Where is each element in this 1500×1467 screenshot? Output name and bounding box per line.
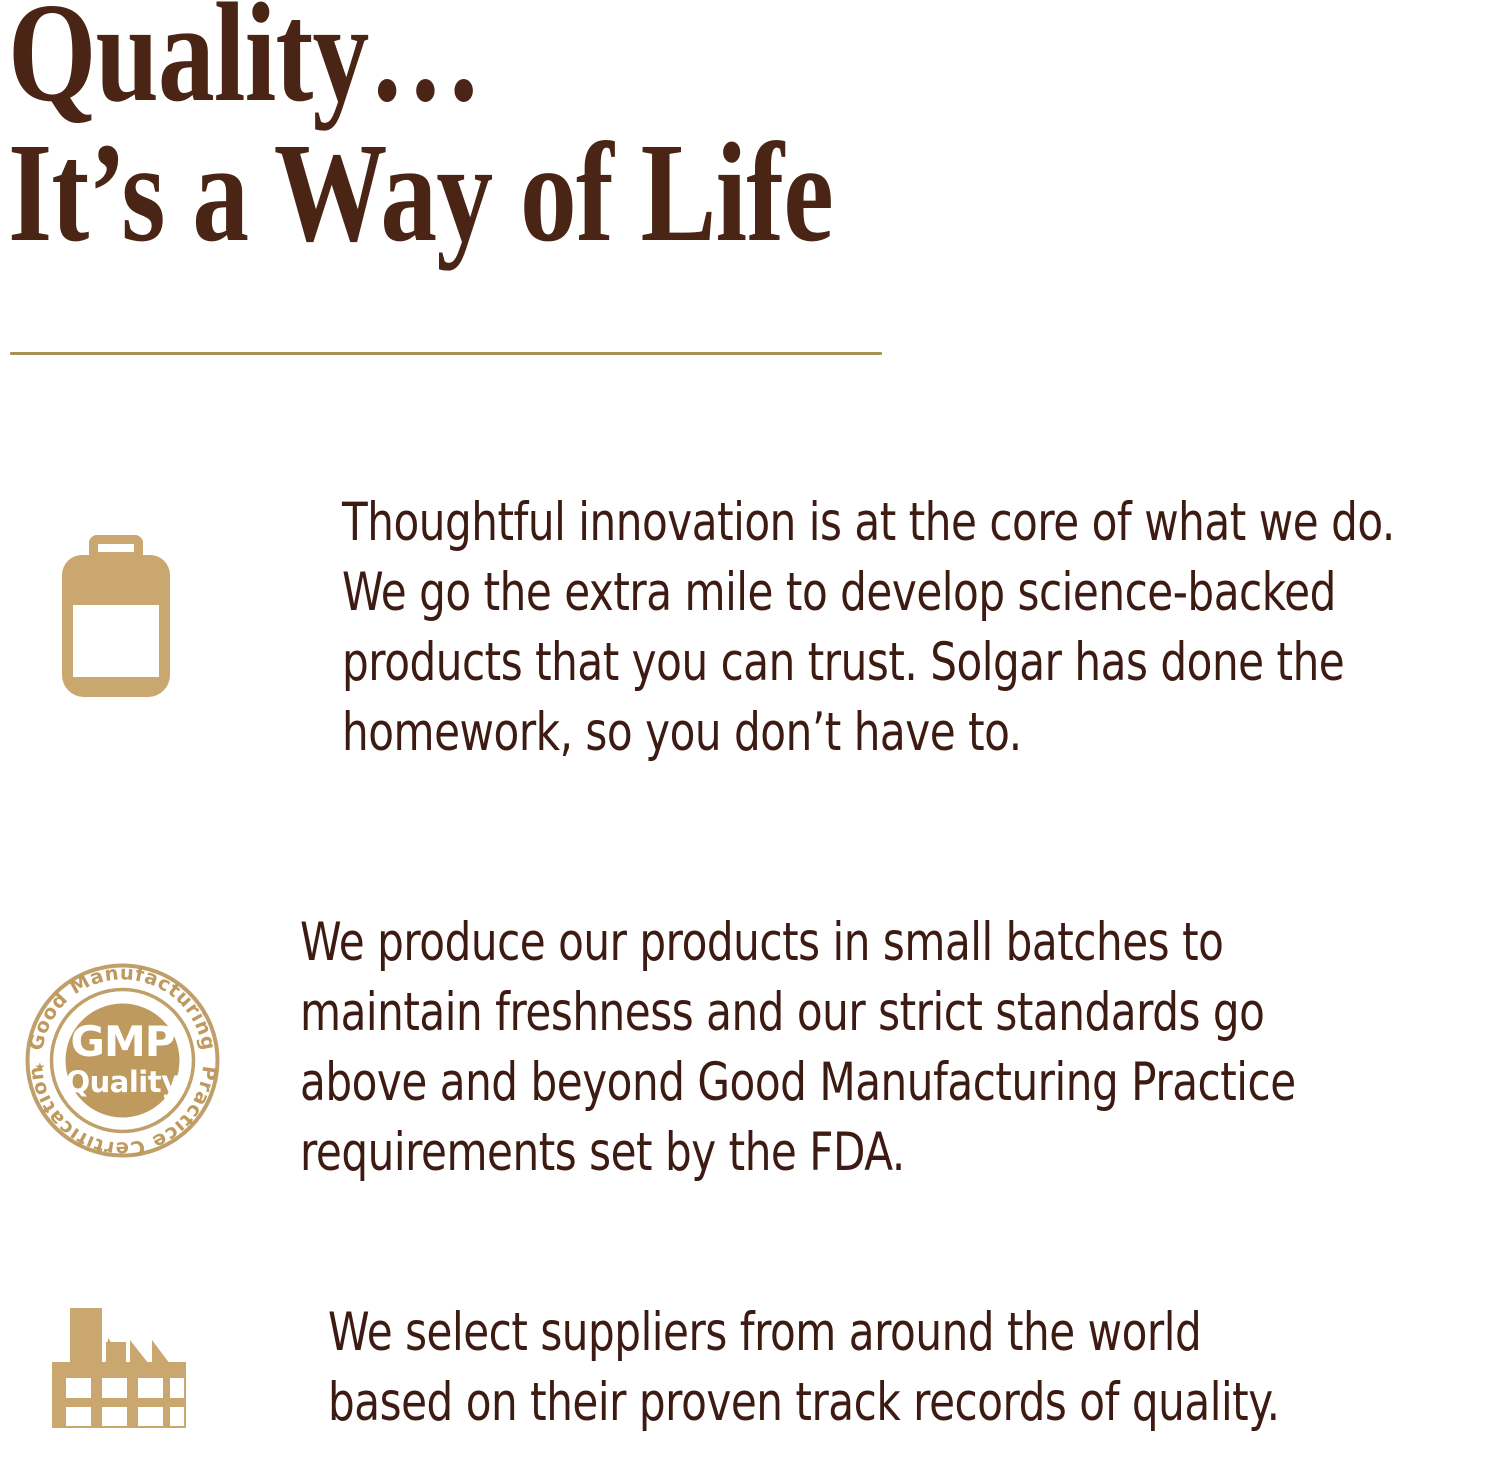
feature-row-suppliers: We select suppliers from around the worl… [0, 1298, 1500, 1438]
svg-text:GMP: GMP [70, 1017, 174, 1066]
headline-line-1: Quality… [8, 0, 833, 126]
feature-text-gmp: We produce our products in small batches… [300, 908, 1500, 1188]
gmp-quality-seal-icon: Good Manufacturing Practice Certificatio… [20, 958, 225, 1163]
icon-cell-seal: Good Manufacturing Practice Certificatio… [0, 908, 300, 1163]
page-title: Quality… It’s a Way of Life [8, 0, 833, 266]
gold-divider-rule [10, 352, 882, 355]
factory-icon [48, 1302, 189, 1432]
feature-row-innovation: Thoughtful innovation is at the core of … [0, 488, 1500, 768]
feature-text-innovation: Thoughtful innovation is at the core of … [342, 488, 1500, 768]
icon-cell-bottle [0, 488, 342, 697]
bottle-cap-shape [89, 535, 143, 561]
svg-text:Quality: Quality [65, 1065, 180, 1099]
svg-text:★: ★ [35, 1060, 46, 1074]
icon-cell-factory [0, 1298, 328, 1432]
headline-line-2: It’s a Way of Life [8, 118, 833, 266]
feature-row-gmp: Good Manufacturing Practice Certificatio… [0, 908, 1500, 1188]
supplement-bottle-icon [62, 535, 170, 697]
bottle-label-shape [73, 605, 159, 677]
feature-text-suppliers: We select suppliers from around the worl… [328, 1298, 1500, 1438]
